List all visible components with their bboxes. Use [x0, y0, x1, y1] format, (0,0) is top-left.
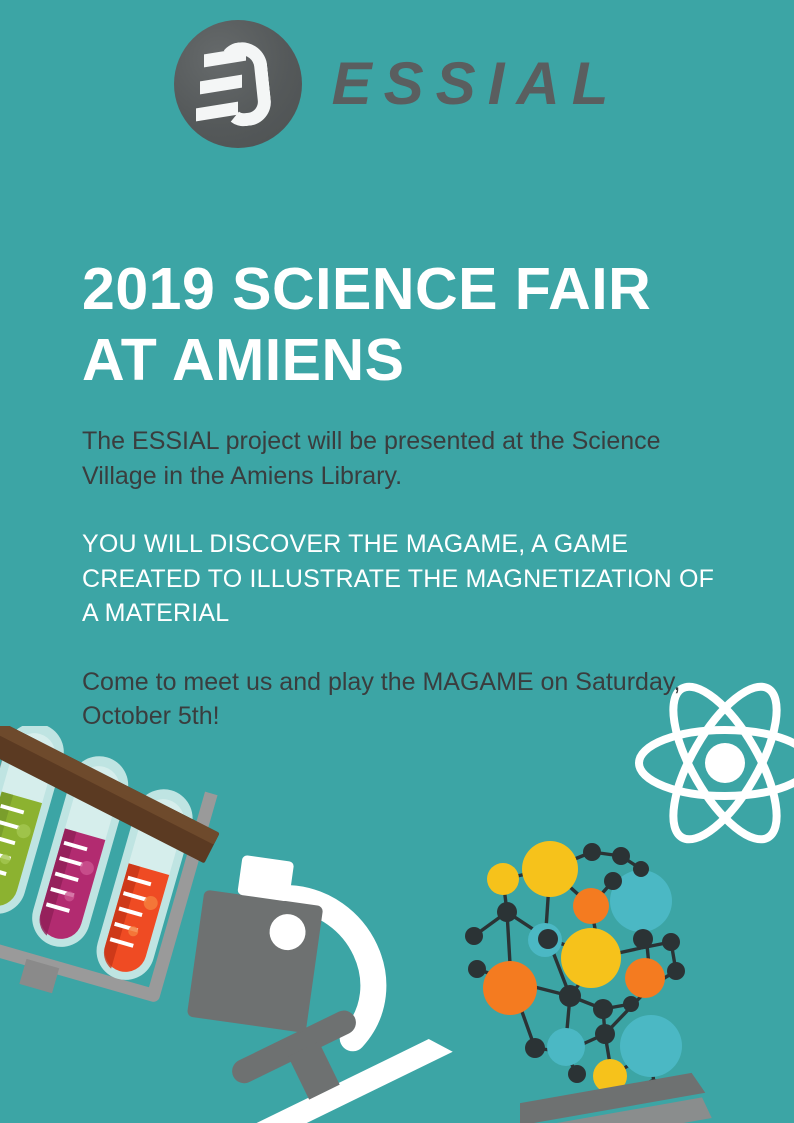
ruler-illustration — [520, 1055, 794, 1123]
microscope-illustration — [140, 840, 460, 1123]
body-copy: The ESSIAL project will be presented at … — [82, 424, 730, 734]
paragraph-magame: YOU WILL DISCOVER THE MAGAME, A GAME CRE… — [82, 527, 730, 631]
paragraph-invite: Come to meet us and play the MAGAME on S… — [82, 665, 730, 734]
brand-wordmark: ESSIAL — [328, 54, 621, 114]
paragraph-intro: The ESSIAL project will be presented at … — [82, 424, 730, 493]
atom-nucleus — [705, 743, 745, 783]
poster-canvas: ESSIAL 2019 SCIENCE FAIR AT AMIENS The E… — [0, 0, 794, 1123]
logo-s-shape — [216, 40, 273, 129]
essial-circle-logo — [174, 20, 302, 148]
page-title: 2019 SCIENCE FAIR AT AMIENS — [82, 254, 722, 397]
brand-header: ESSIAL — [0, 20, 794, 148]
